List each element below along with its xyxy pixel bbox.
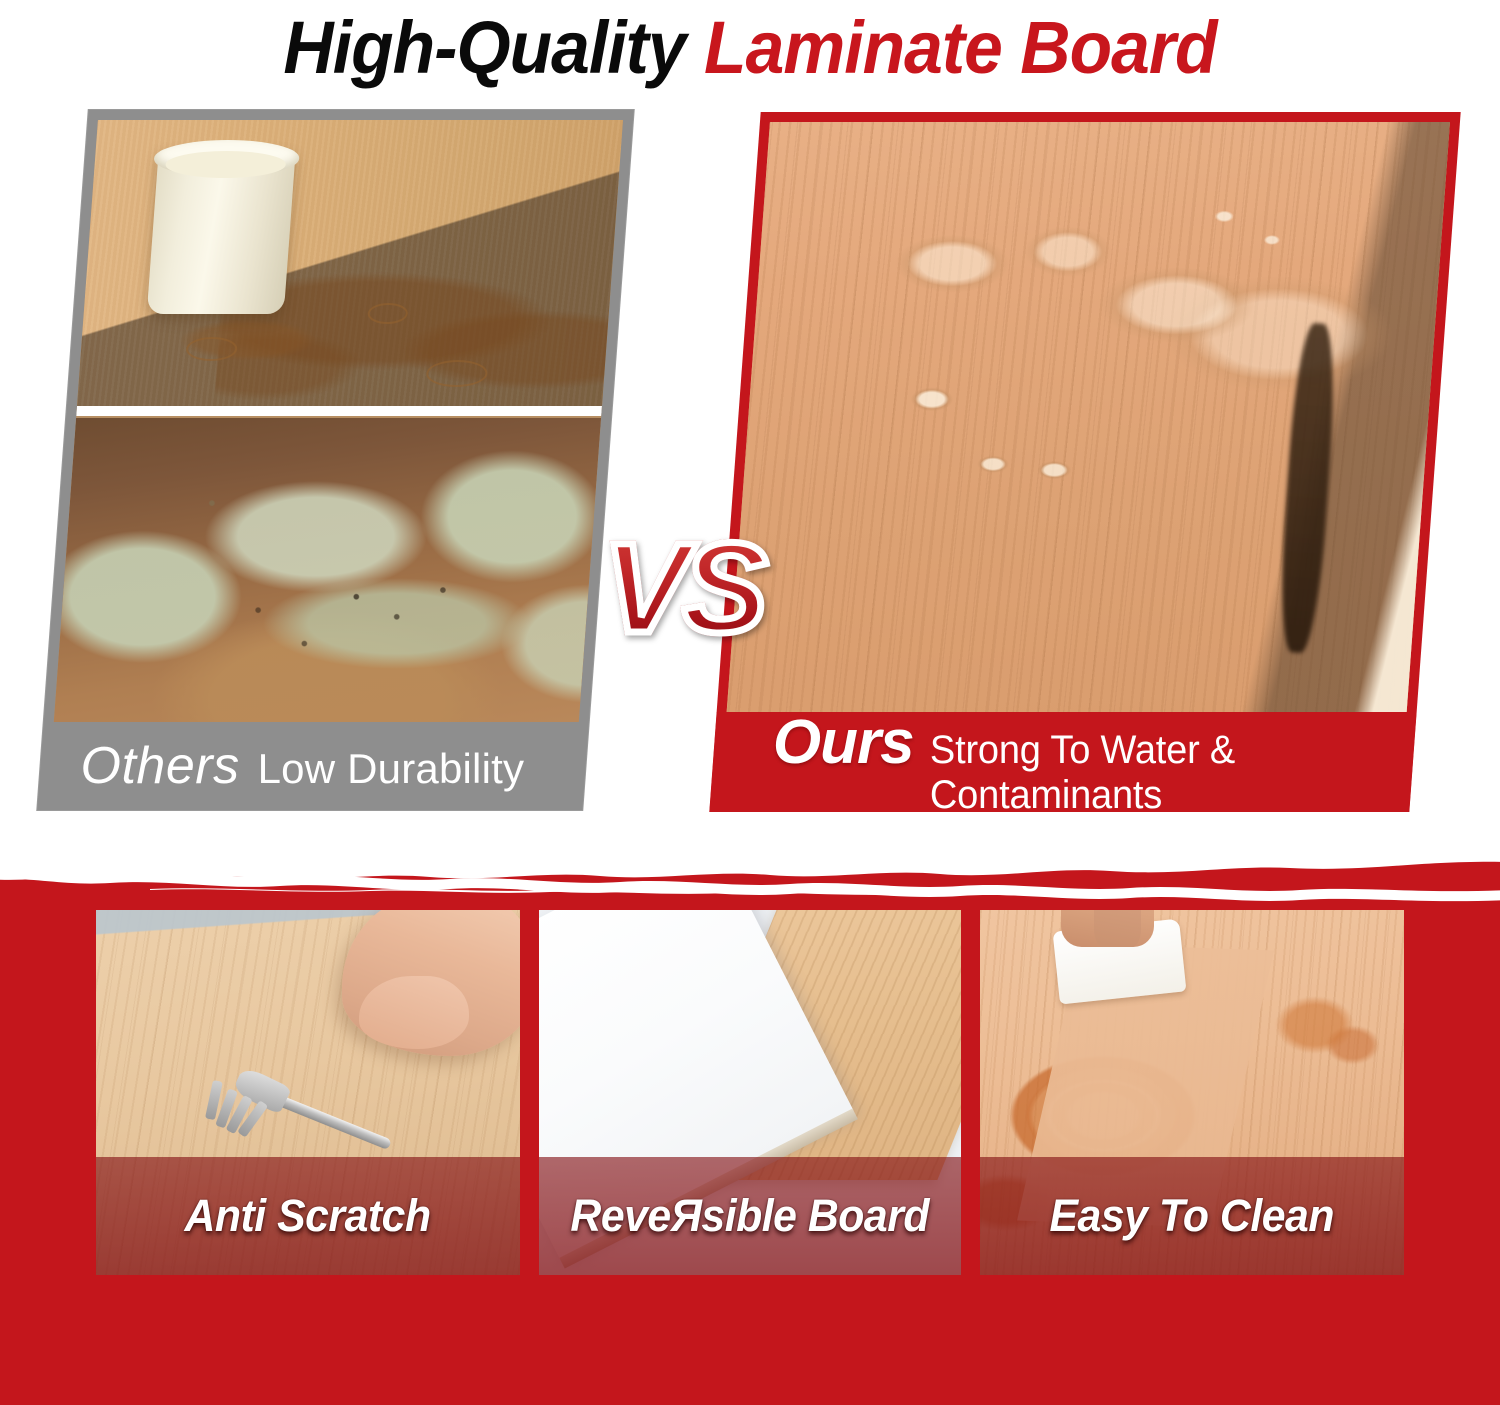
finger-shape xyxy=(1094,910,1141,947)
feature-label: Anti Scratch xyxy=(185,1190,431,1242)
others-subheading: Low Durability xyxy=(258,745,525,793)
ours-caption-band: Ours Strong To Water & Contaminants xyxy=(709,712,1416,812)
feature-label-wrap: Anti Scratch xyxy=(96,1157,520,1275)
features-section: Anti Scratch ReveЯsible Board xyxy=(0,850,1500,1405)
comparison-pane-others: Others Low Durability xyxy=(37,110,633,810)
comparison-section: Others Low Durability Ours Strong To Wat… xyxy=(0,100,1500,830)
feature-card-easy-to-clean: Easy To Clean xyxy=(980,910,1404,1275)
finger-shape xyxy=(359,976,469,1049)
marketing-infographic: High-Quality Laminate Board xyxy=(0,0,1500,1405)
feature-card-anti-scratch: Anti Scratch xyxy=(96,910,520,1275)
ours-subheading: Strong To Water & Contaminants xyxy=(930,728,1389,813)
feature-label: ReveЯsible Board xyxy=(571,1190,930,1242)
torn-paper-edge xyxy=(0,850,1500,916)
others-photo-spill xyxy=(77,120,623,406)
page-title: High-Quality Laminate Board xyxy=(45,2,1455,94)
comparison-pane-ours: Ours Strong To Water & Contaminants xyxy=(709,112,1460,812)
ours-heading: Ours xyxy=(773,707,914,778)
mold-growth-surface xyxy=(54,418,601,722)
others-caption-band: Others Low Durability xyxy=(37,722,588,810)
feature-cards: Anti Scratch ReveЯsible Board xyxy=(0,910,1500,1330)
others-photo-stack xyxy=(54,120,623,722)
title-part-red: Laminate Board xyxy=(704,6,1217,89)
title-part-black: High-Quality xyxy=(283,6,704,89)
others-photo-mold xyxy=(54,418,601,722)
feature-card-reversible-board: ReveЯsible Board xyxy=(539,910,961,1275)
feature-label-wrap: Easy To Clean xyxy=(980,1157,1404,1275)
vs-badge: VS xyxy=(603,525,762,653)
feature-label: Easy To Clean xyxy=(1050,1190,1334,1242)
photo-divider xyxy=(76,406,602,416)
feature-label-wrap: ReveЯsible Board xyxy=(539,1157,961,1275)
others-heading: Others xyxy=(81,736,240,796)
sauce-stain-right xyxy=(1251,968,1395,1092)
paper-cup xyxy=(147,149,296,315)
ours-photo xyxy=(727,122,1450,712)
